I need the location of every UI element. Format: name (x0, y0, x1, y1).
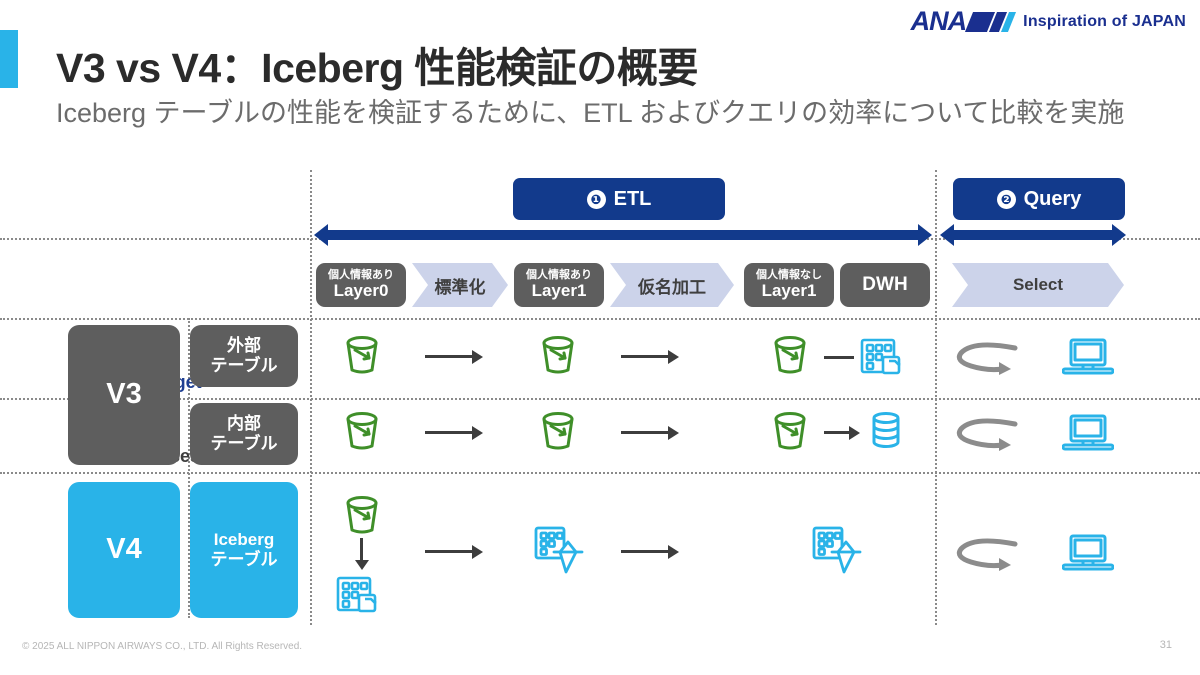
table-label-line2: テーブル (211, 356, 278, 376)
page-title: V3 vs V4：Iceberg 性能検証の概要 (56, 34, 698, 94)
chip-bottom-label: Layer1 (532, 282, 587, 300)
target-banner-query[interactable]: ❷ Query (953, 178, 1125, 220)
laptop-icon (1062, 531, 1114, 580)
chevron-label: Select (1013, 275, 1063, 295)
divider-process-rows (0, 318, 1200, 320)
chip-bottom-label: DWH (862, 275, 907, 295)
arrow-right-icon (621, 426, 679, 440)
table-box-v4-iceberg[interactable]: Iceberg テーブル (190, 482, 298, 618)
arrow-right-icon (425, 426, 483, 440)
table-label-line1: 内部 (227, 414, 261, 434)
table-label-line1: Iceberg (214, 530, 274, 550)
arrow-right-icon (824, 426, 860, 440)
chevron-label: 仮名加工 (638, 273, 706, 298)
glue-catalog-icon (858, 332, 906, 385)
version-box-v4[interactable]: V4 (68, 482, 180, 618)
process-chip-layer1-pii[interactable]: 個人情報あり Layer1 (514, 263, 604, 307)
divider-row-v3ext-v3int (0, 398, 1200, 400)
target-label-query: Query (1024, 188, 1082, 211)
laptop-icon (1062, 411, 1114, 460)
s3-bucket-icon (336, 406, 388, 463)
s3-bucket-icon (336, 330, 388, 387)
ana-stripe-icon (969, 11, 1013, 33)
page-number: 31 (1160, 639, 1172, 651)
chip-bottom-label: Layer1 (762, 282, 817, 300)
divider-row-v3int-v4 (0, 472, 1200, 474)
glue-catalog-icon (334, 570, 382, 623)
table-label-line2: テーブル (211, 550, 278, 570)
iceberg-table-icon (532, 522, 588, 583)
process-chevron-pseudonymize[interactable]: 仮名加工 (610, 263, 734, 307)
ana-tagline: Inspiration of JAPAN (1023, 13, 1186, 31)
ana-logo: ANA Inspiration of JAPAN (911, 8, 1186, 35)
query-span-arrow-icon (940, 224, 1126, 246)
version-box-v3[interactable]: V3 (68, 325, 180, 465)
arrow-right-icon (425, 350, 483, 364)
version-name: V3 (106, 378, 141, 411)
table-box-v3-internal[interactable]: 内部 テーブル (190, 403, 298, 465)
table-box-v3-external[interactable]: 外部 テーブル (190, 325, 298, 387)
target-number-1: ❶ (587, 190, 606, 209)
chip-bottom-label: Layer0 (334, 282, 389, 300)
title-accent-bar (0, 30, 18, 88)
page-subtitle: Iceberg テーブルの性能を検証するために、ETL およびクエリの効率につい… (56, 96, 1146, 132)
s3-bucket-icon (764, 406, 816, 463)
process-chip-dwh[interactable]: DWH (840, 263, 930, 307)
s3-bucket-icon (532, 330, 584, 387)
curved-arrow-icon (953, 340, 1025, 383)
table-label-line1: 外部 (227, 336, 261, 356)
etl-span-arrow-icon (314, 224, 932, 246)
arrow-right-icon (621, 350, 679, 364)
iceberg-table-icon (810, 522, 866, 583)
arrow-down-icon (355, 538, 369, 570)
target-label-etl: ETL (614, 188, 652, 211)
target-banner-etl[interactable]: ❶ ETL (513, 178, 725, 220)
target-number-2: ❷ (997, 190, 1016, 209)
arrow-right-icon (425, 545, 483, 559)
comparison-diagram: Target Process ❶ ETL ❷ Query 個人情報あり Laye… (0, 170, 1200, 625)
link-line (824, 356, 854, 359)
s3-bucket-icon (532, 406, 584, 463)
version-name: V4 (106, 533, 141, 566)
table-label-line2: テーブル (211, 434, 278, 454)
arrow-right-icon (621, 545, 679, 559)
process-chevron-standardize[interactable]: 標準化 (412, 263, 508, 307)
process-chevron-select[interactable]: Select (952, 263, 1124, 307)
s3-bucket-icon (764, 330, 816, 387)
ana-logomark: ANA (911, 8, 1014, 35)
laptop-icon (1062, 335, 1114, 384)
slide: ANA Inspiration of JAPAN V3 vs V4：Iceber… (0, 0, 1200, 675)
process-chip-layer0[interactable]: 個人情報あり Layer0 (316, 263, 406, 307)
copyright-text: © 2025 ALL NIPPON AIRWAYS CO., LTD. All … (22, 641, 302, 652)
chevron-label: 標準化 (435, 273, 486, 298)
curved-arrow-icon (953, 416, 1025, 459)
curved-arrow-icon (953, 536, 1025, 579)
database-icon (868, 410, 904, 457)
process-chip-layer1-nopii[interactable]: 個人情報なし Layer1 (744, 263, 834, 307)
ana-logo-text: ANA (911, 8, 967, 35)
